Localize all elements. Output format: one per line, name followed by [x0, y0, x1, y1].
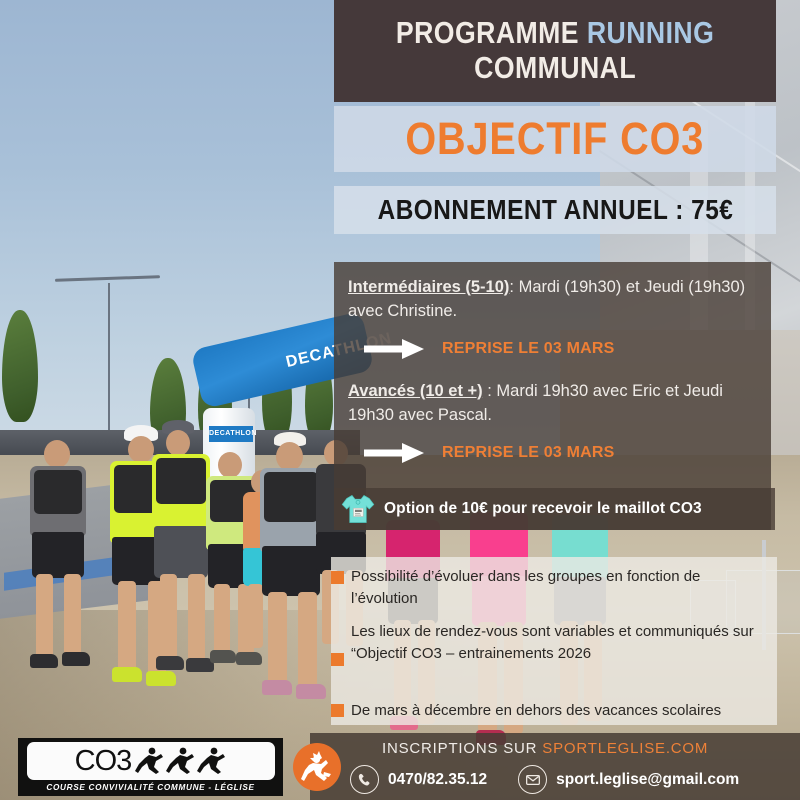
subscription-price: ABONNEMENT ANNUEL : 75€ — [377, 194, 733, 226]
contact-row: 0470/82.35.12 sport.leglise@gmail.com — [350, 765, 739, 794]
bullet-icon — [331, 704, 344, 717]
envelope-glyph — [525, 772, 541, 788]
tshirt-icon — [340, 491, 376, 527]
note-item: De mars à décembre en dehors des vacance… — [351, 700, 766, 722]
poster: DECATHLON DECATHLON — [0, 0, 800, 800]
group-intermediate: Intermédiaires (5-10): Mardi (19h30) et … — [348, 276, 760, 324]
notes-panel: Possibilité d’évoluer dans les groupes e… — [331, 557, 777, 725]
running-imp-icon — [298, 748, 336, 786]
title-panel: OBJECTIF CO3 — [334, 106, 776, 172]
arrow-right-icon — [362, 338, 426, 360]
bullet-icon — [331, 571, 344, 584]
header-line-2: COMMUNAL — [474, 51, 636, 86]
inscriptions-prefix: INSCRIPTIONS SUR — [382, 740, 542, 757]
email-icon — [518, 765, 547, 794]
phone-number[interactable]: 0470/82.35.12 — [388, 771, 487, 789]
co3-logo-mark: CO3 — [27, 742, 275, 780]
bullet-icon — [331, 653, 344, 666]
runner-pictograms-icon — [134, 746, 226, 776]
header-running-text: RUNNING — [587, 15, 714, 50]
reprise-intermediate: REPRISE LE 03 MARS — [442, 340, 615, 358]
group-intermediate-name: Intermédiaires (5-10) — [348, 278, 509, 296]
note-item: Les lieux de rendez-vous sont variables … — [351, 621, 766, 665]
arrow-right-icon — [362, 442, 426, 464]
group-advanced-name: Avancés (10 et +) — [348, 382, 483, 400]
inscriptions-line: INSCRIPTIONS SUR SPORTLEGLISE.COM — [382, 740, 708, 757]
co3-logo: CO3 — [18, 738, 283, 796]
shirt-option-text: Option de 10€ pour recevoir le maillot C… — [384, 500, 702, 518]
header-line-1: PROGRAMME RUNNING — [396, 16, 714, 51]
footer: CO3 — [0, 733, 800, 800]
group-advanced: Avancés (10 et +) : Mardi 19h30 avec Eri… — [348, 380, 760, 428]
price-panel: ABONNEMENT ANNUEL : 75€ — [334, 186, 776, 234]
page-title: OBJECTIF CO3 — [406, 113, 705, 165]
arch-leg-brand-label: DECATHLON — [209, 426, 253, 442]
website-link[interactable]: SPORTLEGLISE.COM — [542, 740, 708, 757]
phone-glyph — [357, 772, 372, 787]
note-item: Possibilité d’évoluer dans les groupes e… — [351, 566, 766, 610]
header-programme-text: PROGRAMME — [396, 15, 587, 50]
phone-icon — [350, 765, 379, 794]
email-address[interactable]: sport.leglise@gmail.com — [556, 771, 739, 789]
mascot-icon — [293, 743, 341, 791]
shirt-option-panel: Option de 10€ pour recevoir le maillot C… — [334, 488, 775, 530]
co3-logo-text: CO3 — [75, 747, 132, 776]
reprise-advanced: REPRISE LE 03 MARS — [442, 444, 615, 462]
header-panel: PROGRAMME RUNNING COMMUNAL — [334, 0, 776, 102]
co3-logo-tagline: COURSE CONVIVIALITÉ COMMUNE - LÉGLISE — [46, 783, 254, 792]
